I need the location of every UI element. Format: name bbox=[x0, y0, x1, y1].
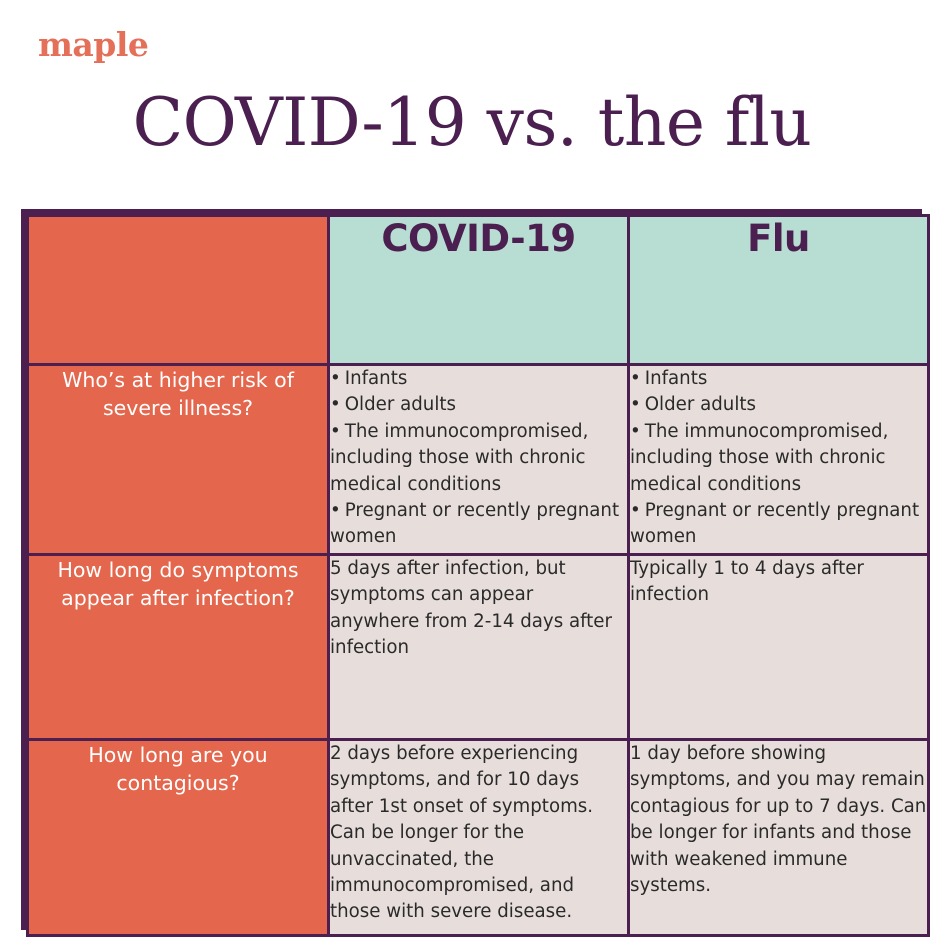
list-item-text: Older adults bbox=[345, 394, 456, 415]
list-item-text: Older adults bbox=[645, 394, 756, 415]
cell-flu-risk: •Infants •Older adults •The immunocompro… bbox=[629, 365, 929, 555]
list-item-text: Infants bbox=[345, 368, 408, 389]
cell-flu-onset: Typically 1 to 4 days after infection bbox=[629, 555, 929, 740]
infographic-page: maple COVID-19 vs. the flu COVID-19 Flu … bbox=[0, 0, 944, 944]
list-item: •Infants bbox=[630, 366, 927, 392]
column-header-covid: COVID-19 bbox=[329, 216, 629, 365]
table-header-row: COVID-19 Flu bbox=[28, 216, 929, 365]
cell-covid-onset: 5 days after infection, but symptoms can… bbox=[329, 555, 629, 740]
cell-text: 5 days after infection, but symptoms can… bbox=[330, 556, 627, 662]
row-question-onset: How long do symptoms appear after infect… bbox=[28, 555, 329, 740]
header-corner-cell bbox=[28, 216, 329, 365]
bullet-list: •Infants •Older adults •The immunocompro… bbox=[630, 366, 927, 551]
cell-covid-contagious: 2 days before experiencing symptoms, and… bbox=[329, 740, 629, 936]
cell-text: 2 days before experiencing symptoms, and… bbox=[330, 741, 627, 926]
bullet-icon: • bbox=[630, 421, 641, 442]
bullet-icon: • bbox=[630, 394, 641, 415]
bullet-list: •Infants •Older adults •The immunocompro… bbox=[330, 366, 627, 551]
list-item-text: The immunocompromised, including those w… bbox=[330, 421, 588, 495]
cell-text: 1 day before showing symptoms, and you m… bbox=[630, 741, 927, 899]
bullet-icon: • bbox=[630, 368, 641, 389]
bullet-icon: • bbox=[630, 500, 641, 521]
list-item-text: Pregnant or recently pregnant women bbox=[330, 500, 619, 547]
list-item: •The immunocompromised, including those … bbox=[630, 419, 927, 498]
comparison-table-container: COVID-19 Flu Who’s at higher risk of sev… bbox=[21, 209, 922, 930]
column-header-flu: Flu bbox=[629, 216, 929, 365]
list-item: •Infants bbox=[330, 366, 627, 392]
list-item: •The immunocompromised, including those … bbox=[330, 419, 627, 498]
row-question-risk: Who’s at higher risk of severe illness? bbox=[28, 365, 329, 555]
bullet-icon: • bbox=[330, 421, 341, 442]
list-item-text: Pregnant or recently pregnant women bbox=[630, 500, 919, 547]
cell-covid-risk: •Infants •Older adults •The immunocompro… bbox=[329, 365, 629, 555]
table-row: How long do symptoms appear after infect… bbox=[28, 555, 929, 740]
list-item-text: Infants bbox=[645, 368, 708, 389]
comparison-table: COVID-19 Flu Who’s at higher risk of sev… bbox=[26, 214, 930, 937]
page-title: COVID-19 vs. the flu bbox=[0, 88, 944, 157]
bullet-icon: • bbox=[330, 500, 341, 521]
table-row: How long are you contagious? 2 days befo… bbox=[28, 740, 929, 936]
list-item: •Pregnant or recently pregnant women bbox=[330, 498, 627, 551]
list-item: •Older adults bbox=[330, 392, 627, 418]
cell-text: Typically 1 to 4 days after infection bbox=[630, 556, 927, 609]
list-item: •Pregnant or recently pregnant women bbox=[630, 498, 927, 551]
maple-logo: maple bbox=[38, 28, 148, 61]
bullet-icon: • bbox=[330, 368, 341, 389]
cell-flu-contagious: 1 day before showing symptoms, and you m… bbox=[629, 740, 929, 936]
table-row: Who’s at higher risk of severe illness? … bbox=[28, 365, 929, 555]
list-item-text: The immunocompromised, including those w… bbox=[630, 421, 888, 495]
bullet-icon: • bbox=[330, 394, 341, 415]
row-question-contagious: How long are you contagious? bbox=[28, 740, 329, 936]
list-item: •Older adults bbox=[630, 392, 927, 418]
